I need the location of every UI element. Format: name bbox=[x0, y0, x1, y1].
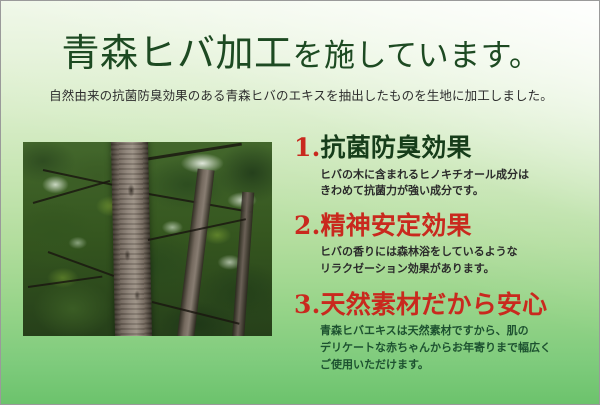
benefit-number-3: 3. bbox=[294, 290, 321, 319]
photo-main-trunk bbox=[111, 142, 153, 336]
benefit-body-1: ヒバの木に含まれるヒノキチオール成分は きわめて抗菌力が強い成分です。 bbox=[320, 167, 594, 200]
page-subtitle: 自然由来の抗菌防臭効果のある青森ヒバのエキスを抽出したものを生地に加工しました。 bbox=[1, 72, 600, 104]
benefit-title-2: 精神安定効果 bbox=[321, 211, 472, 240]
benefit-heading-1: 1.抗菌防臭効果 bbox=[294, 134, 594, 163]
benefit-item-2: 2.精神安定効果 ヒバの香りには森林浴をしているような リラクゼーション効果があ… bbox=[294, 212, 594, 278]
benefit-number-1: 1. bbox=[294, 133, 321, 162]
promo-poster: 青森ヒバ加工を施しています。 自然由来の抗菌防臭効果のある青森ヒバのエキスを抽出… bbox=[0, 0, 600, 405]
benefit-item-3: 3.天然素材だから安心 青森ヒバエキスは天然素材ですから、肌の デリケートな赤ち… bbox=[294, 291, 594, 374]
benefit-heading-2: 2.精神安定効果 bbox=[294, 212, 594, 241]
benefits-list: 1.抗菌防臭効果 ヒバの木に含まれるヒノキチオール成分は きわめて抗菌力が強い成… bbox=[294, 134, 594, 384]
benefit-number-2: 2. bbox=[294, 211, 321, 240]
benefit-body-3: 青森ヒバエキスは天然素材ですから、肌の デリケートな赤ちゃんからお年寄りまで幅広… bbox=[320, 323, 594, 373]
benefit-body-2: ヒバの香りには森林浴をしているような リラクゼーション効果があります。 bbox=[320, 244, 594, 277]
poster-header: 青森ヒバ加工を施しています。 自然由来の抗菌防臭効果のある青森ヒバのエキスを抽出… bbox=[1, 1, 600, 104]
benefit-heading-3: 3.天然素材だから安心 bbox=[294, 291, 594, 320]
page-title-main: 青森ヒバ加工 bbox=[62, 31, 293, 75]
page-title-tail: を施しています。 bbox=[293, 38, 541, 74]
page-title: 青森ヒバ加工を施しています。 bbox=[1, 1, 600, 72]
benefit-item-1: 1.抗菌防臭効果 ヒバの木に含まれるヒノキチオール成分は きわめて抗菌力が強い成… bbox=[294, 134, 594, 200]
benefit-title-1: 抗菌防臭効果 bbox=[321, 133, 472, 162]
benefit-title-3: 天然素材だから安心 bbox=[321, 290, 548, 319]
hiba-forest-photo bbox=[23, 142, 272, 336]
